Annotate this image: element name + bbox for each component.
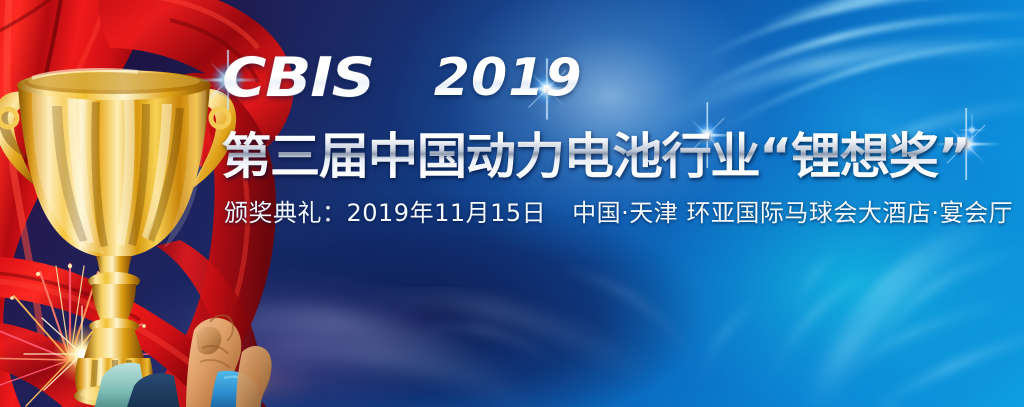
event-venue: 环亚国际马球会大酒店·宴会厅 (686, 199, 1013, 227)
event-banner: CBIS 2019 第三届中国动力电池行业“锂想奖” 颁奖典礼：2019年11月… (0, 0, 1024, 407)
event-details: 颁奖典礼：2019年11月15日中国·天津 环亚国际马球会大酒店·宴会厅 (224, 193, 1013, 228)
ceremony-label: 颁奖典礼： (224, 199, 347, 227)
event-city: 中国·天津 (572, 199, 678, 227)
logo-brand-text: CBIS (222, 46, 374, 109)
logo-year-text: 2019 (434, 48, 583, 108)
ceremony-date: 2019年11月15日 (347, 199, 547, 227)
event-logo: CBIS 2019 (222, 46, 583, 109)
page-title: 第三届中国动力电池行业“锂想奖” (221, 117, 969, 188)
